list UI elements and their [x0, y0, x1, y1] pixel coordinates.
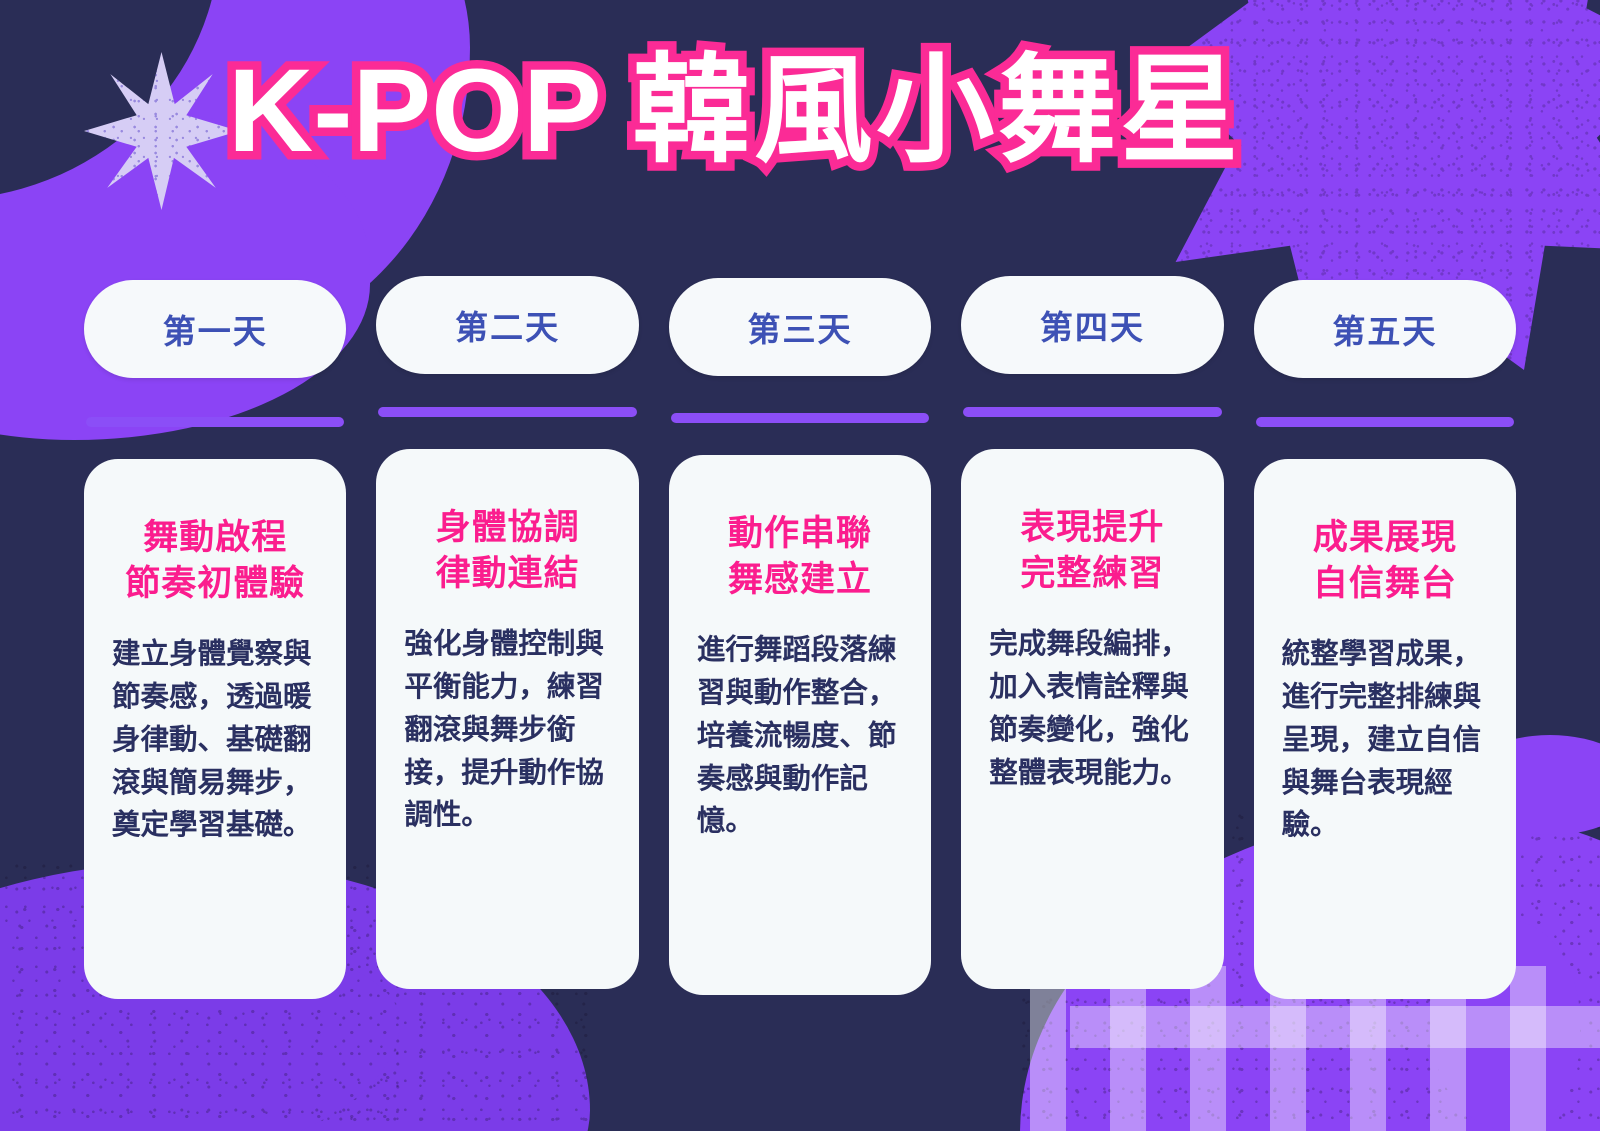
day-pill-3[interactable]: 第三天: [669, 278, 931, 376]
column-divider-4: [963, 407, 1221, 417]
day-pill-4[interactable]: 第四天: [961, 276, 1223, 374]
lesson-card-body-3: 進行舞蹈段落練習與動作整合，培養流暢度、節奏感與動作記憶。: [687, 629, 913, 843]
sparkle-star-icon: [84, 52, 239, 210]
page-title: K-POP 韓風小舞星: [228, 48, 1242, 175]
lesson-card-title-4: 表現提升 完整練習: [1020, 505, 1164, 597]
lesson-card-5[interactable]: 成果展現 自信舞台 統整學習成果，進行完整排練與呈現，建立自信與舞台表現經驗。: [1254, 459, 1516, 999]
schedule-grid: 第一天 舞動啟程 節奏初體驗 建立身體覺察與節奏感，透過暖身律動、基礎翻滾與簡易…: [76, 272, 1524, 999]
lesson-card-body-4: 完成舞段編排，加入表情詮釋與節奏變化，強化整體表現能力。: [979, 623, 1205, 794]
column-divider-5: [1256, 417, 1514, 427]
stripe-band-horizontal: [1070, 1006, 1600, 1048]
schedule-column-2: 第二天 身體協調 律動連結 強化身體控制與平衡能力，練習翻滾與舞步銜接，提升動作…: [368, 272, 646, 999]
poster-canvas: K-POP 韓風小舞星 第一天 舞動啟程 節奏初體驗 建立身體覺察與節奏感，透過…: [0, 0, 1600, 1131]
lesson-card-title-5: 成果展現 自信舞台: [1313, 515, 1457, 607]
lesson-card-1[interactable]: 舞動啟程 節奏初體驗 建立身體覺察與節奏感，透過暖身律動、基礎翻滾與簡易舞步，奠…: [84, 459, 346, 999]
schedule-column-4: 第四天 表現提升 完整練習 完成舞段編排，加入表情詮釋與節奏變化，強化整體表現能…: [953, 272, 1231, 999]
column-divider-3: [671, 413, 929, 423]
lesson-card-2[interactable]: 身體協調 律動連結 強化身體控制與平衡能力，練習翻滾與舞步銜接，提升動作協調性。: [376, 449, 638, 989]
lesson-card-body-5: 統整學習成果，進行完整排練與呈現，建立自信與舞台表現經驗。: [1272, 633, 1498, 847]
day-pill-5[interactable]: 第五天: [1254, 280, 1516, 378]
schedule-column-1: 第一天 舞動啟程 節奏初體驗 建立身體覺察與節奏感，透過暖身律動、基礎翻滾與簡易…: [76, 272, 354, 999]
column-divider-2: [378, 407, 636, 417]
lesson-card-title-2: 身體協調 律動連結: [436, 505, 580, 597]
lesson-card-title-3: 動作串聯 舞感建立: [728, 511, 872, 603]
schedule-column-5: 第五天 成果展現 自信舞台 統整學習成果，進行完整排練與呈現，建立自信與舞台表現…: [1246, 272, 1524, 999]
schedule-column-3: 第三天 動作串聯 舞感建立 進行舞蹈段落練習與動作整合，培養流暢度、節奏感與動作…: [661, 272, 939, 999]
lesson-card-3[interactable]: 動作串聯 舞感建立 進行舞蹈段落練習與動作整合，培養流暢度、節奏感與動作記憶。: [669, 455, 931, 995]
day-pill-2[interactable]: 第二天: [376, 276, 638, 374]
day-pill-1[interactable]: 第一天: [84, 280, 346, 378]
lesson-card-body-2: 強化身體控制與平衡能力，練習翻滾與舞步銜接，提升動作協調性。: [394, 623, 620, 837]
lesson-card-title-1: 舞動啟程 節奏初體驗: [125, 515, 305, 607]
column-divider-1: [86, 417, 344, 427]
title-latin: K-POP: [228, 45, 600, 177]
lesson-card-4[interactable]: 表現提升 完整練習 完成舞段編排，加入表情詮釋與節奏變化，強化整體表現能力。: [961, 449, 1223, 989]
lesson-card-body-1: 建立身體覺察與節奏感，透過暖身律動、基礎翻滾與簡易舞步，奠定學習基礎。: [102, 633, 328, 847]
title-cjk: 韓風小舞星: [632, 45, 1242, 177]
